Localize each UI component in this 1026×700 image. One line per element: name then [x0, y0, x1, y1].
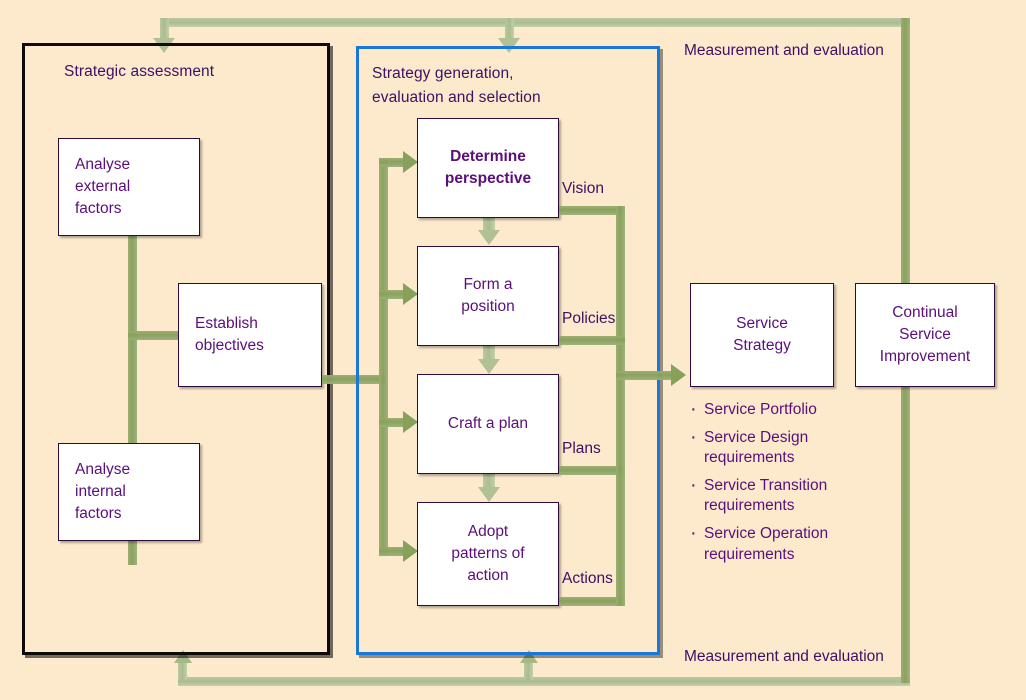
collector-to-service-strategy: [616, 371, 678, 380]
list-item: Service Portfolio: [690, 400, 880, 421]
box-adopt-patterns-of-action[interactable]: Adopt patterns of action: [417, 502, 559, 606]
list-item: Service Design requirements: [690, 428, 880, 469]
label-policies: Policies: [562, 310, 615, 328]
box-craft-a-plan[interactable]: Craft a plan: [417, 374, 559, 474]
box-analyse-external-factors[interactable]: Analyse external factors: [58, 138, 200, 236]
box-form-a-position[interactable]: Form a position: [417, 246, 559, 346]
seq-arrow-2-icon: [478, 359, 500, 374]
service-strategy-outputs-list: Service Portfolio Service Design require…: [690, 400, 880, 572]
feedback-bottom-center-riser: [524, 662, 533, 680]
panel-strategic-assessment-title: Strategic assessment: [64, 60, 314, 84]
box-service-strategy[interactable]: Service Strategy: [690, 283, 834, 387]
feedback-right-bottom-vertical-line: [901, 378, 910, 683]
caption-measurement-top: Measurement and evaluation: [684, 42, 884, 60]
list-item: Service Transition requirements: [690, 476, 880, 517]
box-establish-objectives[interactable]: Establish objectives: [178, 283, 322, 387]
label-vision: Vision: [562, 180, 604, 198]
feedback-bottom-horizontal-line: [178, 677, 910, 686]
feedback-right-vertical-line: [901, 18, 910, 298]
arrow-to-form-a-position-icon: [403, 283, 418, 305]
seq-arrow-1-icon: [478, 230, 500, 245]
box-determine-perspective[interactable]: Determine perspective: [417, 118, 559, 218]
rail-vision-vertical: [616, 206, 625, 376]
label-actions: Actions: [562, 570, 613, 588]
caption-measurement-bottom: Measurement and evaluation: [684, 648, 884, 666]
label-plans: Plans: [562, 440, 601, 458]
panel-strategy-generation-title: Strategy generation, evaluation and sele…: [372, 62, 652, 110]
strategy-vertical-trunk: [379, 158, 388, 556]
arrow-to-service-strategy-icon: [671, 364, 686, 386]
feedback-top-left-drop: [160, 18, 169, 40]
rail-actions-vertical: [616, 466, 625, 606]
rail-plans-vertical: [616, 376, 625, 474]
feedback-top-center-drop: [505, 18, 514, 40]
feedback-bottom-left-riser: [178, 662, 187, 680]
arrow-to-determine-perspective-icon: [403, 151, 418, 173]
arrow-to-craft-a-plan-icon: [403, 411, 418, 433]
diagram-canvas: Strategic assessment Analyse external fa…: [0, 0, 1026, 700]
box-analyse-internal-factors[interactable]: Analyse internal factors: [58, 443, 200, 541]
box-continual-service-improvement[interactable]: Continual Service Improvement: [855, 283, 995, 387]
list-item: Service Operation requirements: [690, 524, 880, 565]
arrow-to-adopt-patterns-icon: [403, 540, 418, 562]
rail-policies-horizontal: [559, 336, 625, 345]
feedback-top-horizontal-line: [160, 18, 910, 27]
seq-arrow-3-icon: [478, 487, 500, 502]
